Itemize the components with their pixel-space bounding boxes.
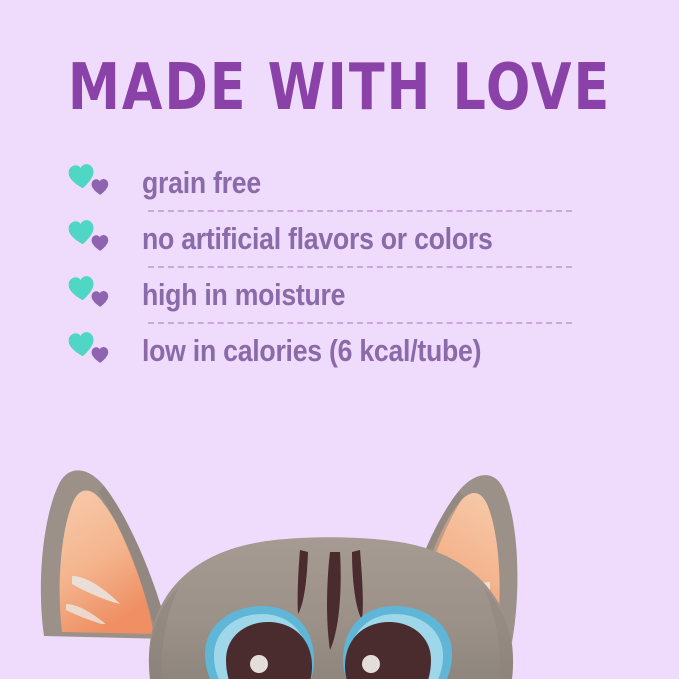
list-item-label: high in moisture	[142, 277, 345, 313]
poster-canvas: MADE WITH LOVE grain free	[0, 0, 679, 679]
page-title: MADE WITH LOVE	[10, 56, 669, 120]
right-eye-highlight	[362, 655, 380, 673]
heart-icon	[91, 290, 110, 309]
cat-illustration	[0, 464, 679, 679]
heart-icon	[91, 178, 110, 197]
list-item-label: no artificial flavors or colors	[142, 221, 493, 257]
heart-icon	[91, 346, 110, 365]
heart-bullet	[66, 329, 128, 373]
heart-icon	[91, 234, 110, 253]
heart-bullet	[66, 273, 128, 317]
list-item: low in calories (6 kcal/tube)	[0, 324, 679, 378]
benefits-list: grain free no artificial flavors or colo…	[0, 156, 679, 378]
list-item: no artificial flavors or colors	[0, 212, 679, 266]
list-item: grain free	[0, 156, 679, 210]
heart-bullet	[66, 217, 128, 261]
list-item: high in moisture	[0, 268, 679, 322]
heart-bullet	[66, 161, 128, 205]
list-item-label: grain free	[142, 165, 261, 201]
cat-left-ear	[41, 470, 170, 640]
list-item-label: low in calories (6 kcal/tube)	[142, 333, 481, 369]
left-eye-highlight	[250, 655, 268, 673]
